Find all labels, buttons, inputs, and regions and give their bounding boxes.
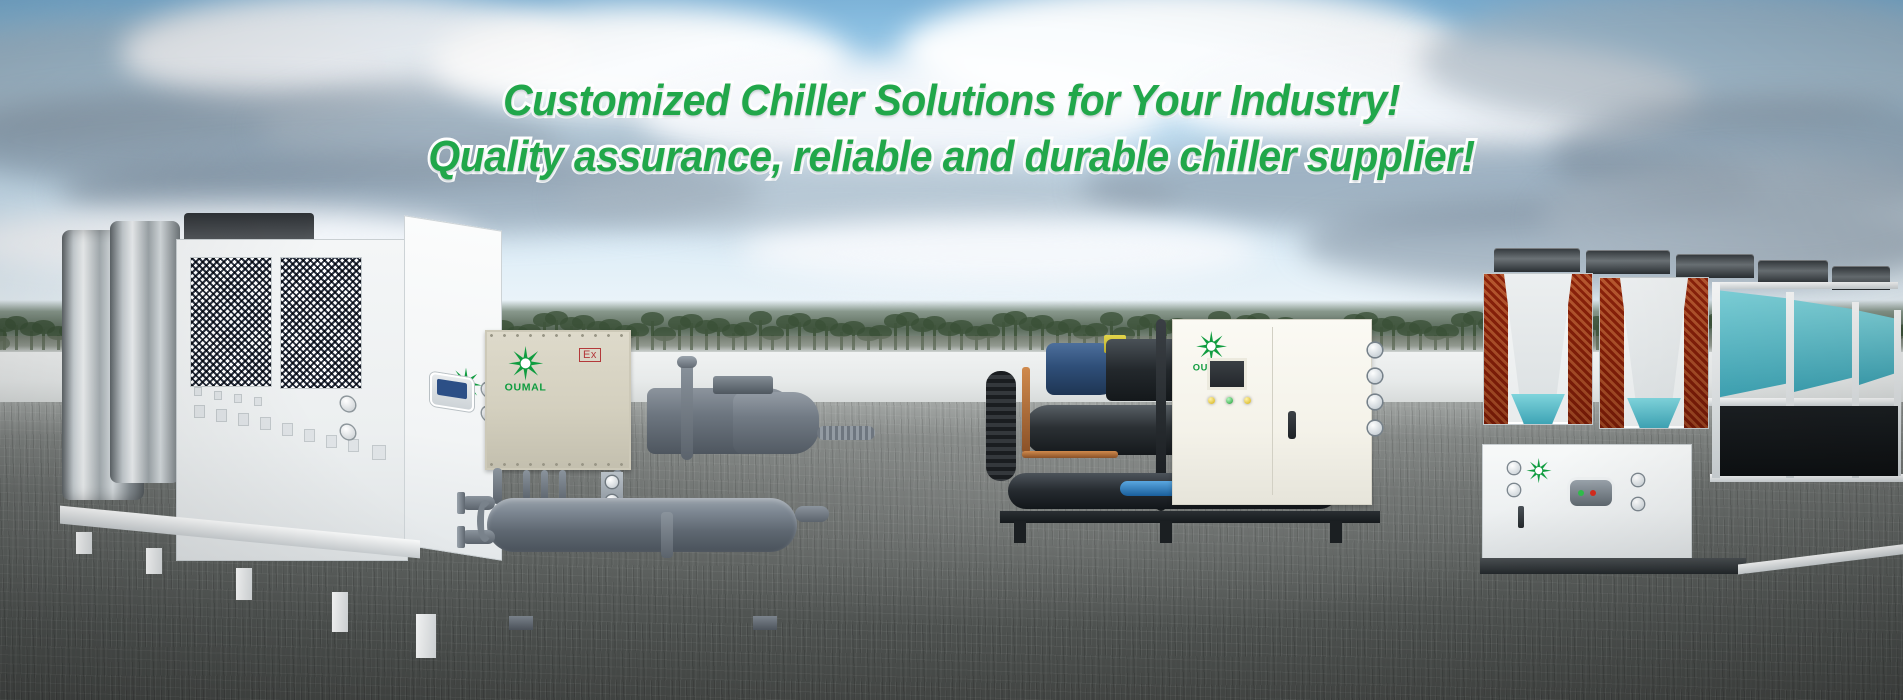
product-air-cooled-screw-chiller — [1480, 248, 1903, 648]
coil-fin-teal — [1716, 290, 1790, 398]
shell-and-tube-evaporator — [487, 498, 797, 552]
product-water-cooled-screw-chiller: OUMAL — [1000, 325, 1460, 625]
louver — [372, 445, 386, 460]
starburst-icon — [1526, 458, 1551, 483]
compressor-motor — [733, 392, 819, 454]
indicator-light-green — [1226, 397, 1233, 404]
finned-coil — [1568, 274, 1592, 424]
louver — [348, 439, 359, 452]
pipe-elbow — [477, 500, 493, 542]
coil-fin-teal — [1794, 300, 1854, 392]
stainless-water-tank-secondary — [110, 221, 180, 483]
copper-tube — [1022, 451, 1118, 458]
louver — [214, 391, 222, 400]
fan-hood — [184, 213, 314, 241]
outlet-pipe — [795, 506, 829, 522]
machine-foot — [753, 616, 777, 630]
brand-wordmark: OUMAL — [497, 381, 554, 393]
frame-post — [1712, 282, 1720, 478]
frame-shadow-void — [1720, 406, 1898, 476]
support-post — [493, 468, 502, 504]
indicator-light-yellow — [1244, 397, 1251, 404]
hmi-touchscreen[interactable] — [1210, 361, 1244, 387]
finned-coil — [1600, 278, 1624, 428]
mesh-grille-icon — [190, 257, 272, 387]
drain-pipe — [661, 512, 673, 558]
louver — [234, 394, 242, 403]
louver — [194, 405, 205, 418]
frame-leg — [1014, 521, 1026, 543]
pressure-gauge — [1368, 395, 1382, 409]
brand-logo: OUMAL — [497, 346, 554, 394]
pipe-cap — [677, 356, 697, 368]
louver — [254, 397, 262, 406]
louver — [304, 429, 315, 442]
mesh-grille-icon — [280, 257, 362, 389]
pressure-gauge — [1508, 484, 1520, 496]
chiller-body — [176, 239, 408, 561]
axial-fan — [1676, 254, 1754, 278]
pipe-flange — [457, 492, 465, 514]
hero-banner: Ex OUMAL — [0, 0, 1903, 700]
condenser-coil-bay — [1600, 278, 1708, 428]
insulated-hose — [986, 371, 1016, 481]
starburst-icon — [508, 346, 543, 381]
frame-leg — [1330, 521, 1342, 543]
coil-fin-teal — [1506, 394, 1570, 424]
indicator-light-red — [1590, 490, 1596, 496]
copper-tube — [1022, 367, 1030, 453]
indicator-light-green — [1578, 490, 1584, 496]
frame-rail — [1712, 282, 1898, 289]
louver — [326, 435, 337, 448]
coil-fin-teal — [1856, 310, 1898, 386]
axial-fan — [1494, 248, 1580, 272]
product-air-cooled-box-chiller — [58, 255, 478, 670]
pressure-gauge — [1368, 343, 1382, 357]
louver — [282, 423, 293, 436]
louver — [194, 387, 202, 396]
conduit — [523, 470, 530, 500]
cabinet-door-handle[interactable] — [1288, 411, 1296, 439]
frame-rail — [1708, 398, 1900, 406]
brand-logo — [1518, 458, 1559, 483]
pressure-gauge — [1632, 474, 1644, 486]
base-skid — [1480, 558, 1746, 574]
headline-line-2: Quality assurance, reliable and durable … — [67, 134, 1837, 180]
machine-foot — [509, 616, 533, 630]
pressure-gauge — [1368, 421, 1382, 435]
louver — [260, 417, 271, 430]
support-leg — [146, 548, 162, 574]
ex-rating-badge: Ex — [579, 348, 601, 362]
frame-leg — [1160, 521, 1172, 543]
base-rail — [1738, 543, 1903, 574]
headline: Customized Chiller Solutions for Your In… — [0, 78, 1903, 180]
support-leg — [332, 592, 348, 632]
electrical-cabinet — [1482, 444, 1692, 562]
louver — [216, 409, 227, 422]
pressure-gauge — [1368, 369, 1382, 383]
axial-fan — [1586, 250, 1670, 274]
cloud — [740, 218, 1260, 284]
indicator-light-yellow — [1208, 397, 1215, 404]
pipe-flange — [457, 526, 465, 548]
bolt-row — [485, 333, 631, 338]
cabinet-door-seam — [1272, 327, 1273, 495]
finned-coil — [1684, 278, 1708, 428]
starburst-icon — [1196, 331, 1227, 362]
bolt-row — [485, 462, 631, 467]
support-leg — [236, 568, 252, 600]
cabinet-door-handle[interactable] — [1518, 506, 1524, 528]
pressure-gauge — [606, 476, 618, 488]
support-leg — [76, 532, 92, 554]
pressure-gauge — [1632, 498, 1644, 510]
louver — [238, 413, 249, 426]
support-leg — [416, 614, 436, 658]
base-frame — [1000, 511, 1380, 523]
finned-coil — [1484, 274, 1508, 424]
discharge-pipe — [681, 360, 693, 460]
motor-terminal-box — [713, 376, 773, 394]
product-explosion-proof-screw-chiller: Ex OUMAL — [465, 330, 885, 630]
coil-fin-teal — [1622, 398, 1686, 428]
axial-fan — [1758, 260, 1828, 284]
headline-line-1: Customized Chiller Solutions for Your In… — [67, 78, 1837, 124]
flex-hose — [817, 426, 875, 440]
condenser-coil-bay — [1484, 274, 1592, 424]
